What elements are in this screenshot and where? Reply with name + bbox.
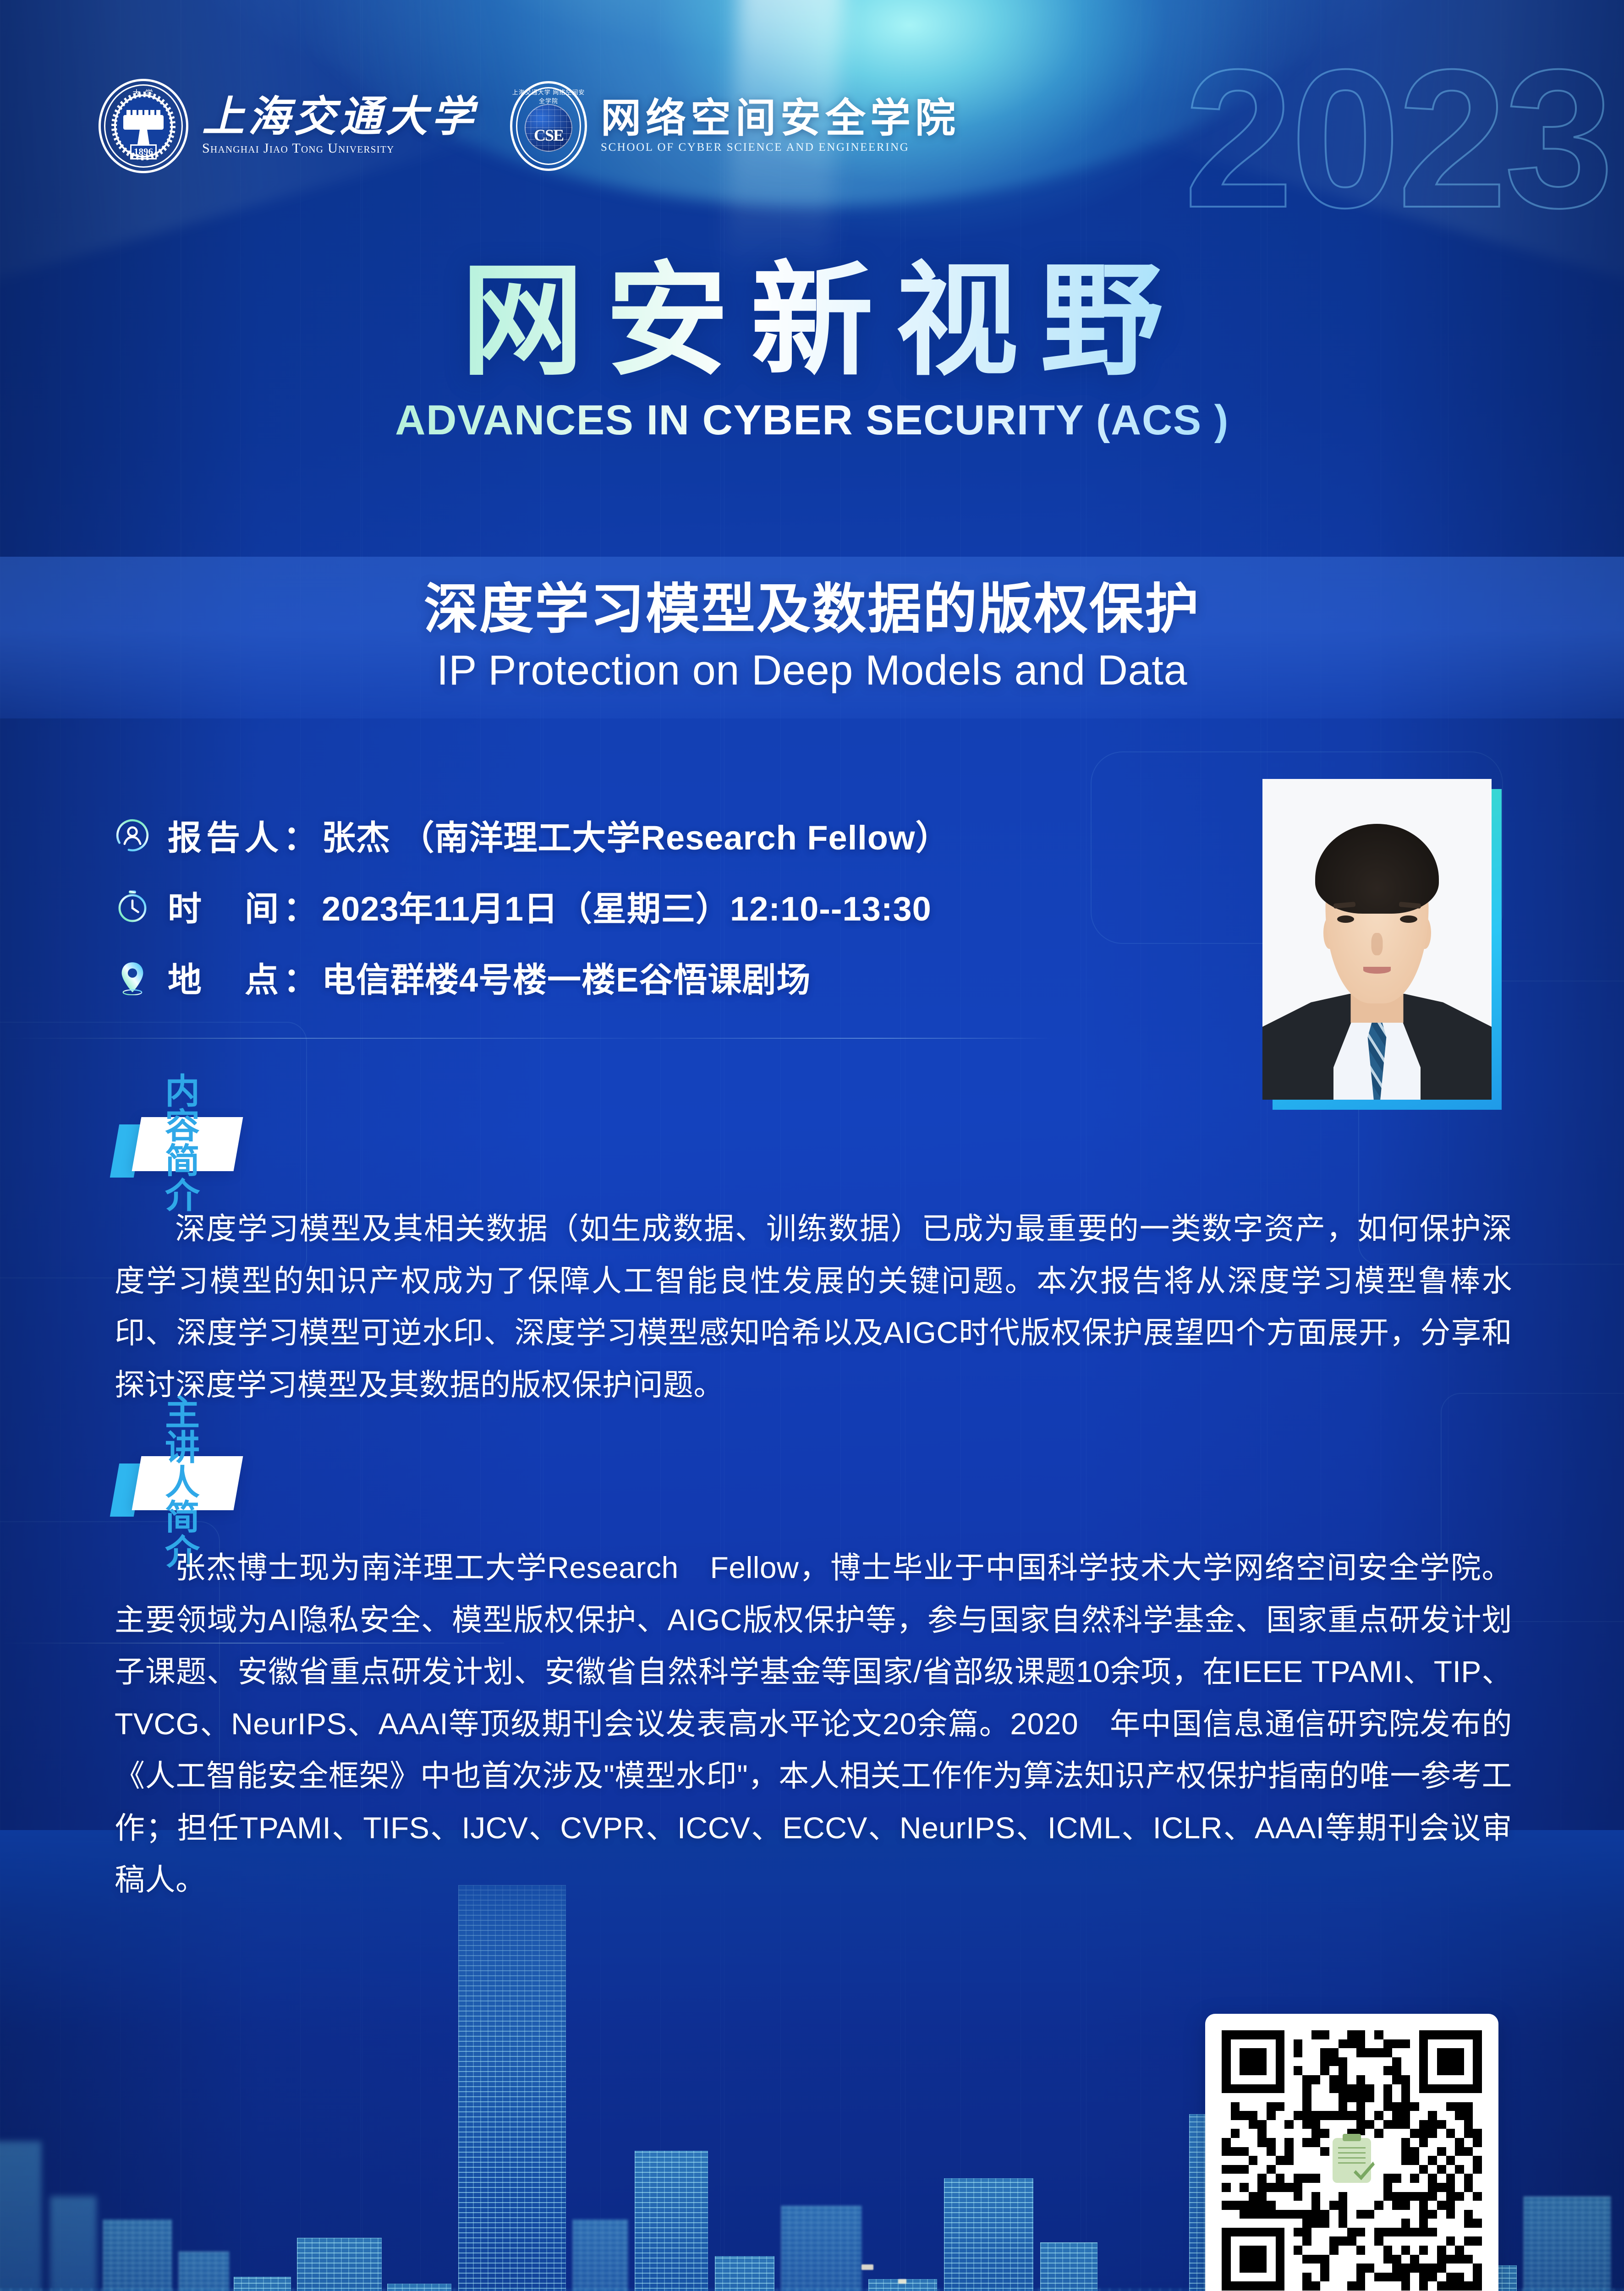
header-logos: 大 学 1896 上海交通大学 Shanghai Jiao Tong Unive… <box>0 69 1624 183</box>
section-abstract-body: 深度学习模型及其相关数据（如生成数据、训练数据）已成为最重要的一类数字资产，如何… <box>115 1203 1512 1411</box>
university-name-en: Shanghai Jiao Tong University <box>202 141 477 156</box>
school-name-cn: 网络空间安全学院 <box>601 98 960 138</box>
section-bio-body: 张杰博士现为南洋理工大学Research Fellow，博士毕业于中国科学技术大… <box>115 1542 1512 1906</box>
main-title-block: 网安新视野 ADVANCES IN CYBER SECURITY (ACS ) <box>0 257 1624 444</box>
sjtu-seal-arc-top: 大 学 <box>99 87 188 98</box>
info-speaker-value: 张杰 （南洋理工大学Research Fellow） <box>322 819 950 857</box>
info-row-location: 地 点：电信群楼4号楼一楼E谷悟课剧场 <box>115 942 1169 1013</box>
clock-icon <box>115 888 150 924</box>
speaker-portrait-block <box>1262 779 1492 1100</box>
cse-seal-abbr: CSE <box>534 126 563 145</box>
talk-info-list: 报告人：张杰 （南洋理工大学Research Fellow） 时 间：20 <box>115 800 1169 1013</box>
talk-title-en: IP Protection on Deep Models and Data <box>0 647 1624 695</box>
info-location-text: 地 点：电信群楼4号楼一楼E谷悟课剧场 <box>168 953 811 1002</box>
registration-qr-block[interactable]: 报名请扫码 <box>1205 2014 1498 2291</box>
person-circle-icon <box>115 817 150 853</box>
sjtu-logo-block: 大 学 1896 上海交通大学 Shanghai Jiao Tong Unive… <box>99 79 477 173</box>
cse-seal-icon: CSE 上海交通大学 网络空间安全学院 <box>510 81 587 171</box>
section-abstract-title: 内容简介 <box>165 1074 203 1214</box>
qr-code[interactable] <box>1205 2014 1498 2291</box>
sjtu-seal-icon: 大 学 1896 <box>99 79 188 173</box>
info-row-time: 时 间：2023年11月1日（星期三）12:10--13:30 <box>115 871 1169 942</box>
talk-title-band: 深度学习模型及数据的版权保护 IP Protection on Deep Mod… <box>0 557 1624 718</box>
info-time-text: 时 间：2023年11月1日（星期三）12:10--13:30 <box>168 882 932 931</box>
speaker-photo <box>1262 779 1492 1100</box>
info-time-label: 时 间： <box>168 890 322 928</box>
sjtu-seal-year: 1896 <box>130 144 157 159</box>
info-location-value: 电信群楼4号楼一楼E谷悟课剧场 <box>322 961 811 999</box>
location-pin-icon <box>115 959 150 995</box>
poster-root: 2023 <box>0 0 1624 2291</box>
info-time-value: 2023年11月1日（星期三）12:10--13:30 <box>322 890 932 928</box>
clipboard-check-icon <box>1333 2138 1371 2183</box>
main-title-cn: 网安新视野 <box>0 257 1624 385</box>
info-row-speaker: 报告人：张杰 （南洋理工大学Research Fellow） <box>115 800 1169 871</box>
main-title-en: ADVANCES IN CYBER SECURITY (ACS ) <box>0 396 1624 444</box>
cse-seal-arc-top: 上海交通大学 网络空间安全学院 <box>510 88 587 105</box>
info-location-label: 地 点： <box>168 961 322 999</box>
info-speaker-label: 报告人： <box>168 819 322 857</box>
university-name-cn: 上海交通大学 <box>202 96 477 138</box>
school-name-en: School of Cyber Science and Engineering <box>601 141 960 154</box>
cse-logo-block: CSE 上海交通大学 网络空间安全学院 网络空间安全学院 School of C… <box>510 81 960 171</box>
talk-title-cn: 深度学习模型及数据的版权保护 <box>0 579 1624 641</box>
info-speaker-text: 报告人：张杰 （南洋理工大学Research Fellow） <box>168 811 950 860</box>
